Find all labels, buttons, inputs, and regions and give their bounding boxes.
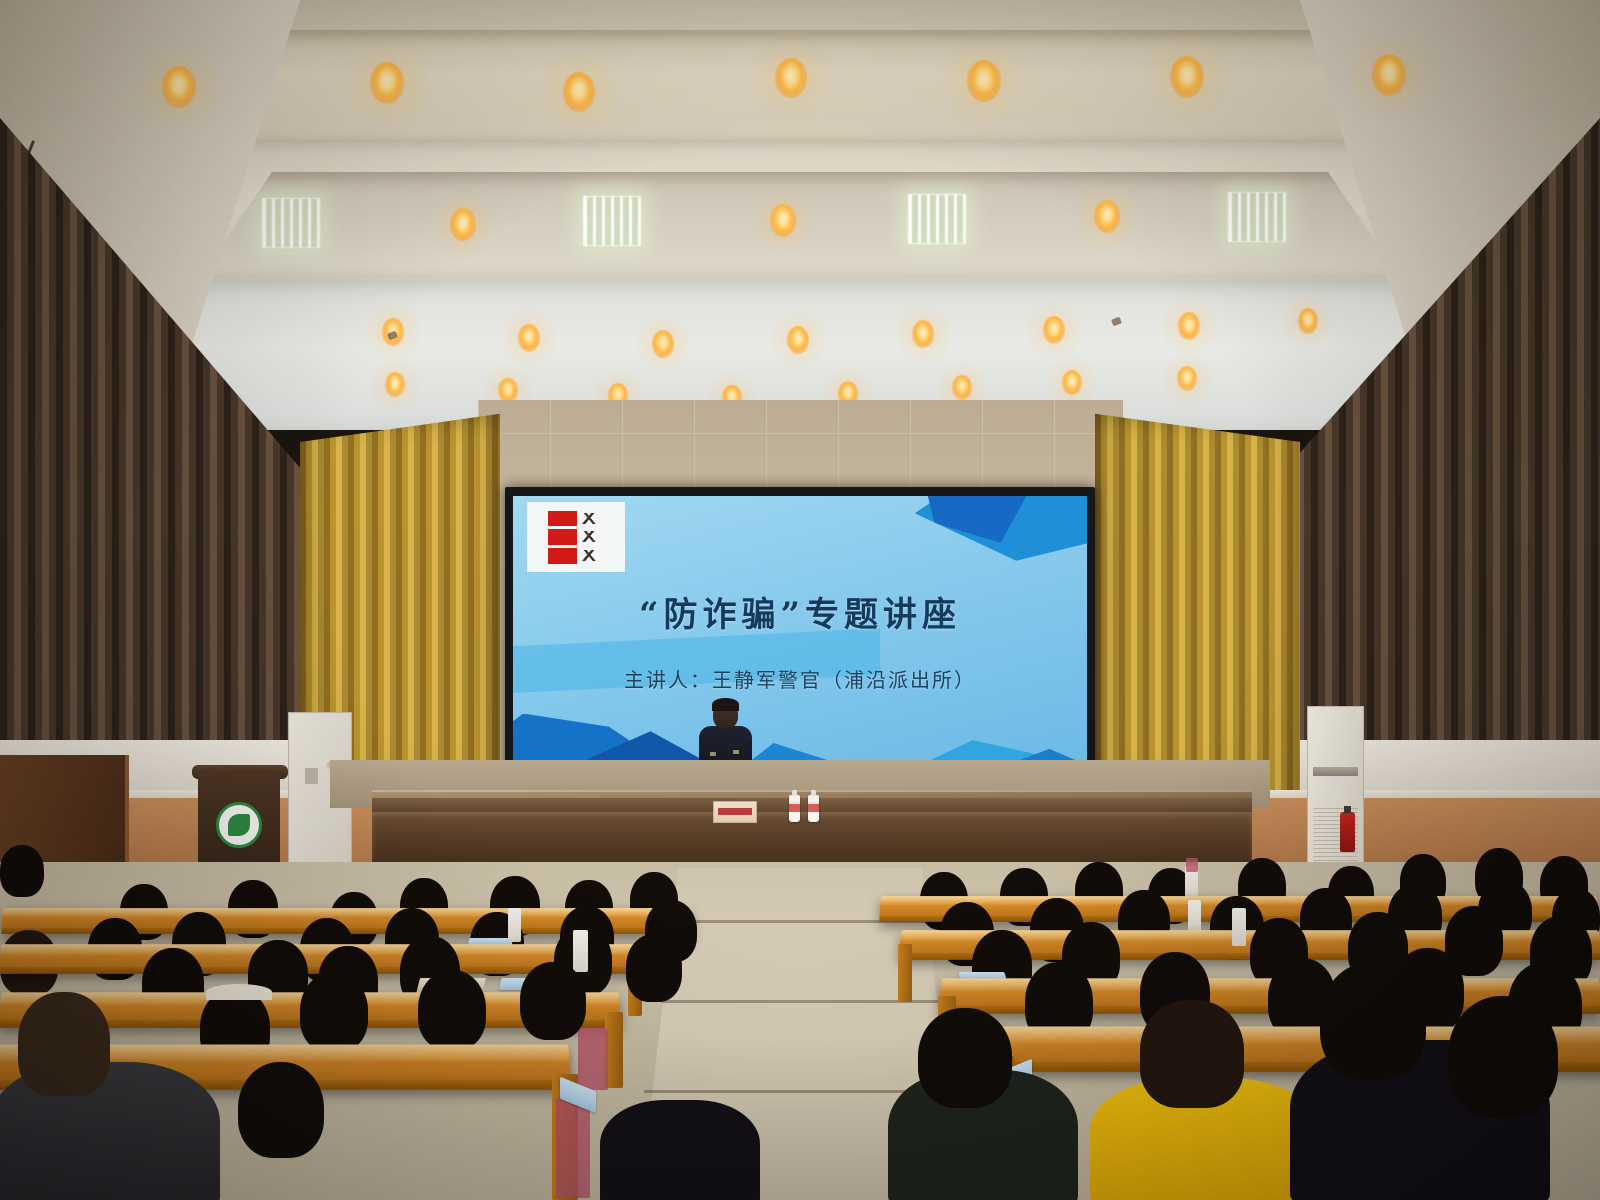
downlight-icon (385, 372, 405, 397)
fire-extinguisher-icon (1340, 812, 1355, 852)
seal-glyphs (548, 509, 605, 565)
speaker-hair (712, 698, 739, 711)
downlight-icon (1372, 54, 1406, 96)
water-bottle (808, 795, 819, 822)
downlight-icon (1062, 370, 1082, 395)
projected-slide: “防诈骗”专题讲座 主讲人：王静军警官（浦沿派出所） (513, 496, 1087, 790)
audience-head (918, 1008, 1012, 1108)
downlight-icon (770, 204, 796, 237)
downlight-icon (967, 60, 1001, 102)
downlight-icon (1043, 316, 1065, 344)
desk-side-pocket (556, 1098, 590, 1198)
fluorescent-panel-icon (908, 194, 966, 244)
audience-head (1320, 962, 1426, 1080)
downlight-icon (1177, 366, 1197, 391)
audience-head (626, 934, 682, 1002)
downlight-icon (1170, 56, 1204, 98)
downlight-icon (1178, 312, 1200, 340)
lectern (198, 772, 280, 870)
downlight-icon (787, 326, 809, 354)
ceiling (0, 0, 1600, 430)
downlight-icon (952, 375, 972, 400)
audience-head (0, 845, 44, 897)
university-seal-logo (527, 502, 625, 573)
downlight-icon (162, 66, 196, 108)
desk-water-bottle (1188, 900, 1201, 934)
audience-head (1448, 996, 1558, 1118)
audience-torso (600, 1100, 760, 1200)
fluorescent-panel-icon (1228, 192, 1286, 242)
audience-head (520, 962, 586, 1040)
floor-air-conditioner (1307, 706, 1364, 868)
audience-head (1140, 1000, 1244, 1108)
slide-subtitle: 主讲人：王静军警官（浦沿派出所） (513, 664, 1087, 693)
downlight-icon (370, 62, 404, 104)
audience-head (300, 972, 368, 1052)
speaker-badge-icon (710, 752, 716, 756)
downlight-icon (652, 330, 674, 358)
downlight-icon (1298, 308, 1318, 334)
desk-leg (898, 944, 912, 1002)
desk-side-pocket (578, 1028, 608, 1090)
downlight-icon (518, 324, 540, 352)
speaker-name-card (713, 801, 757, 823)
desk-bag (1186, 858, 1198, 872)
audience-head (418, 970, 486, 1050)
downlight-icon (450, 208, 476, 241)
audience-head (238, 1062, 324, 1158)
downlight-icon (912, 320, 934, 348)
audience-hairband (206, 984, 272, 1000)
fluorescent-panel-icon (262, 198, 320, 248)
downlight-icon (1094, 200, 1120, 233)
speaker-badge-icon (733, 750, 739, 754)
lecture-hall-photo: “防诈骗”专题讲座 主讲人：王静军警官（浦沿派出所） (0, 0, 1600, 1200)
slide-title: “防诈骗”专题讲座 (513, 587, 1087, 636)
desk-water-bottle (1232, 908, 1246, 946)
fluorescent-panel-icon (583, 196, 641, 246)
desk-water-bottle (508, 908, 521, 942)
water-bottle (789, 795, 800, 822)
lectern-emblem-icon (216, 802, 262, 848)
desk-water-bottle (573, 930, 588, 972)
downlight-icon (563, 72, 595, 112)
audience-head (18, 992, 110, 1096)
ac-vent (1313, 767, 1358, 776)
projection-screen: “防诈骗”专题讲座 主讲人：王静军警官（浦沿派出所） (505, 487, 1095, 797)
downlight-icon (775, 58, 807, 98)
